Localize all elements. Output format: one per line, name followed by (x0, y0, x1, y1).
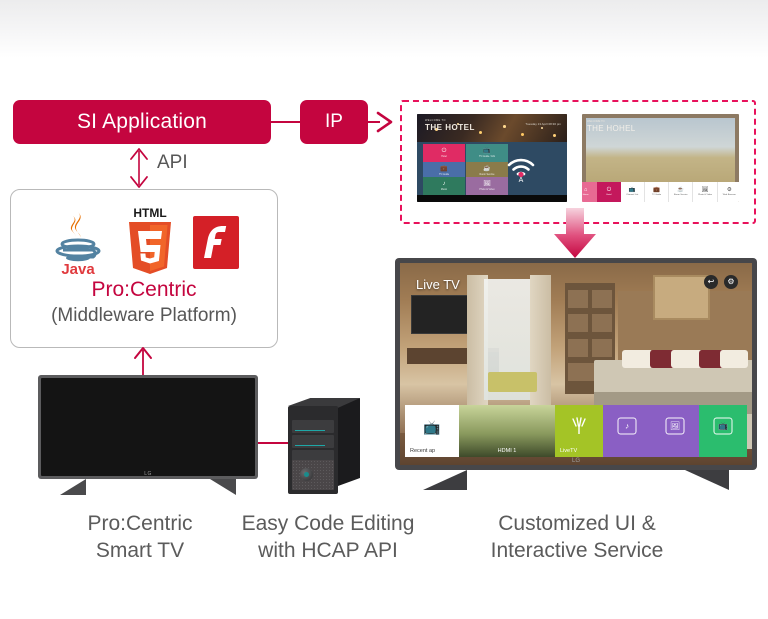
tile-label: TV Guide (439, 173, 449, 176)
shot-b-menu-item[interactable]: ⌂ Home (582, 182, 597, 202)
shot-b-menu-item[interactable]: ☕ Room Service (669, 182, 693, 202)
room-sofa (488, 372, 537, 392)
back-glyph: ↩ (708, 278, 715, 286)
shot-a-tile[interactable]: 🖼 Photo & Video (466, 177, 508, 195)
tv-launcher-bar: 📺 Recent ap HDMI 1 LiveTV ♪ (405, 405, 747, 457)
recent-apps-card[interactable]: 📺 Recent ap (405, 405, 459, 457)
menu-label: Hotel (606, 194, 611, 196)
tv-leg-right (685, 470, 729, 490)
menu-icon: ⚙ (727, 188, 732, 194)
connector-si-to-ip (271, 121, 300, 123)
menu-icon: ⌂ (584, 188, 587, 194)
tile-label: Room Service (479, 173, 494, 176)
tv-bezel (38, 375, 258, 479)
music-note-icon: ♪ (618, 417, 637, 434)
menu-label: Photo & Video (698, 194, 712, 196)
ip-box[interactable]: IP (300, 100, 368, 144)
shot-a-clock: Tuesday 13 April 08:30 pm (525, 122, 561, 126)
shot-b-menu-item[interactable]: 💼 TV Guide (645, 182, 669, 202)
caption-line-1: Easy Code Editing (228, 510, 428, 537)
tile-icon: ♪ (443, 181, 446, 187)
shot-b-menu-item[interactable]: 🖼 Photo & Video (693, 182, 717, 202)
server-drive-bay (292, 420, 334, 433)
caption-line-2: Smart TV (60, 537, 220, 564)
shot-a-hotel-name: THE HOTEL (425, 123, 475, 132)
server-mesh-grill (292, 460, 334, 490)
live-tv-overlay-label: Live TV (416, 277, 460, 292)
wifi-icon: A (505, 154, 537, 182)
connector-tv-to-server (258, 442, 290, 444)
tv-leg-left (423, 470, 467, 490)
svg-text:A: A (519, 177, 524, 182)
card-label: HDMI 1 (498, 448, 517, 454)
shot-b-menu-item[interactable]: ⏻ Hotel (597, 182, 620, 202)
tile-label: TV Guide / Info (479, 155, 495, 158)
ip-label: IP (325, 111, 343, 133)
tv-leg-right (210, 479, 236, 495)
photo-card[interactable]: 🖼 (651, 405, 699, 457)
caption-line-2: Interactive Service (452, 537, 702, 564)
tile-icon: 💼 (440, 166, 447, 172)
tv-panel (41, 378, 255, 476)
caption-line-1: Customized UI & (452, 510, 702, 537)
hotel-ui-screenshot-b: WELCOME TO THE HOHEL ⌂ Home ⏻ Hotel 📺 Ch… (582, 114, 739, 202)
tv-screen: Live TV ↩ ⚙ 📺 Recent ap HDMI 1 (400, 263, 752, 465)
antenna-icon (569, 417, 589, 435)
tv-brand-logo: LG (144, 471, 151, 477)
shot-b-welcome: WELCOME TO (587, 120, 605, 123)
shot-a-tile[interactable]: 📺 TV Guide / Info (466, 144, 508, 162)
shot-a-tile[interactable]: ♪ Music (423, 177, 465, 195)
menu-icon: ☕ (677, 188, 684, 194)
tile-icon: 📺 (483, 148, 490, 154)
ui-screenshots-dashed-group: WELCOME TO THE HOTEL Tuesday 13 April 08… (400, 100, 756, 224)
menu-label: Home (583, 194, 589, 196)
caption-line-2: with HCAP API (228, 537, 428, 564)
middleware-platform-box: Java HTML Pro:Centric (Middleware Platf (10, 189, 278, 348)
shot-b-menu-item[interactable]: ⚙ Web Browser (718, 182, 739, 202)
apps-icon: 📺 (714, 417, 733, 434)
menu-label: Room Service (674, 194, 688, 196)
html5-logo-icon: HTML (123, 204, 177, 276)
gear-glyph: ⚙ (727, 278, 734, 286)
api-double-arrow-icon (128, 146, 150, 190)
caption-easy-code-editing: Easy Code Editing with HCAP API (228, 510, 428, 564)
middleware-subtitle: (Middleware Platform) (11, 305, 277, 327)
tile-icon: ⏻ (442, 148, 447, 154)
hdmi1-card[interactable]: HDMI 1 (459, 405, 555, 457)
svg-text:Java: Java (61, 261, 95, 276)
top-gradient-band (0, 0, 768, 58)
shot-b-hotel-name: THE HOHEL (587, 124, 636, 133)
java-logo-icon: Java (49, 208, 107, 276)
arrow-down-icon (553, 208, 597, 260)
tv-brand-logo: LG (572, 458, 580, 464)
tv-leg-left (60, 479, 86, 495)
arrow-up-icon (132, 346, 154, 376)
tile-icon: 🖼 (483, 181, 491, 187)
flash-logo-icon (193, 216, 239, 269)
shot-a-welcome: WELCOME TO (425, 119, 446, 122)
tile-label: Photo & Video (479, 188, 494, 191)
caption-line-1: Pro:Centric (60, 510, 220, 537)
music-card[interactable]: ♪ (603, 405, 651, 457)
shot-b-menu-item[interactable]: 📺 Channel List (621, 182, 645, 202)
si-application-box[interactable]: SI Application (13, 100, 271, 144)
menu-label: TV Guide (652, 194, 661, 196)
svg-text:HTML: HTML (133, 206, 166, 220)
menu-icon: ⏻ (607, 188, 611, 194)
livetv-card[interactable]: LiveTV (555, 405, 603, 457)
tile-label: Music (441, 188, 447, 191)
gear-icon[interactable]: ⚙ (724, 275, 738, 289)
shot-a-bottom-bar (417, 195, 567, 202)
tile-icon: ☕ (483, 166, 490, 172)
shot-a-tile[interactable]: ⏻ Hotel (423, 144, 465, 162)
card-label: LiveTV (560, 448, 577, 454)
server-drive-bay (292, 435, 334, 448)
hotel-ui-screenshot-a: WELCOME TO THE HOTEL Tuesday 13 April 08… (417, 114, 567, 202)
arrow-right-icon (368, 110, 396, 134)
technology-logos: Java HTML (11, 200, 277, 276)
middleware-title: Pro:Centric (11, 278, 277, 302)
menu-icon: 💼 (653, 188, 660, 194)
server-power-button (300, 468, 313, 481)
apps-card[interactable]: 📺 (699, 405, 747, 457)
caption-customized-ui: Customized UI & Interactive Service (452, 510, 702, 564)
procentric-smart-tv-image: LG (38, 375, 258, 495)
card-label: Recent ap (410, 448, 435, 454)
recent-apps-icon: 📺 (423, 420, 440, 434)
server-side-panel (338, 398, 360, 486)
si-application-label: SI Application (77, 110, 207, 134)
menu-label: Web Browser (723, 194, 736, 196)
tv-bezel: Live TV ↩ ⚙ 📺 Recent ap HDMI 1 (395, 258, 757, 470)
customized-ui-tv-image: Live TV ↩ ⚙ 📺 Recent ap HDMI 1 (395, 258, 757, 490)
room-wall-tv (411, 295, 469, 333)
api-label: API (157, 152, 188, 174)
caption-procentric-smart-tv: Pro:Centric Smart TV (60, 510, 220, 564)
tv-control-buttons: ↩ ⚙ (704, 275, 738, 289)
room-wall-art (653, 275, 710, 319)
tile-label: Hotel (441, 155, 447, 158)
photo-icon: 🖼 (666, 417, 685, 434)
menu-label: Channel List (626, 194, 638, 196)
back-icon[interactable]: ↩ (704, 275, 718, 289)
server-tower-image (288, 398, 360, 494)
menu-icon: 📺 (629, 188, 636, 194)
shot-b-menu-bar: ⌂ Home ⏻ Hotel 📺 Channel List 💼 TV Guide… (582, 182, 739, 202)
diagram-canvas: SI Application IP API Java (0, 0, 768, 619)
menu-icon: 🖼 (702, 188, 709, 194)
